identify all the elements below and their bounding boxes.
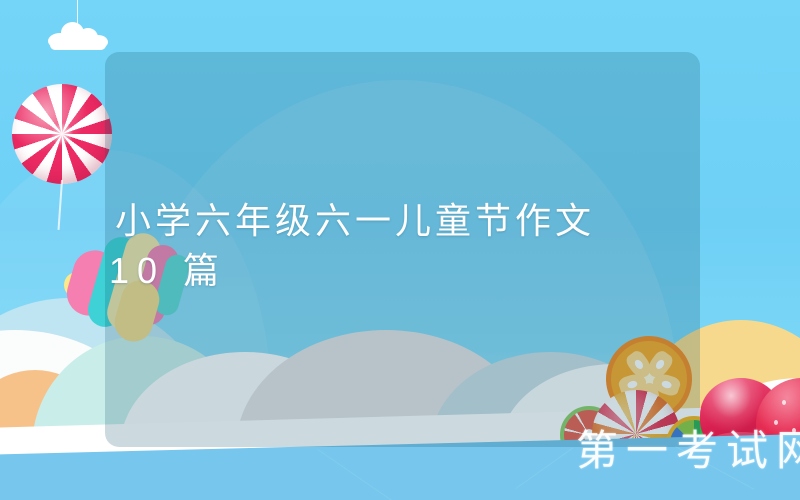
lollipop-large-icon: [12, 84, 112, 184]
cloud-base: [50, 40, 106, 50]
band-accent-line: [317, 449, 392, 500]
strawberry-dot: [792, 428, 796, 433]
title-line-2: 10 篇: [109, 246, 715, 296]
title-line-1: 小学六年级六一儿童节作文: [115, 196, 715, 246]
lollipop-large-center: [12, 84, 112, 184]
strawberry-dot: [774, 420, 778, 425]
band-accent-line: [675, 446, 755, 490]
cloud-hanging-string: [77, 0, 78, 24]
cloud-icon: [48, 22, 108, 48]
banner-canvas: 小学六年级六一儿童节作文 10 篇 第一考试网: [0, 0, 800, 500]
page-title: 小学六年级六一儿童节作文 10 篇: [115, 196, 715, 296]
strawberry-dot: [782, 400, 786, 405]
band-accent-line: [516, 447, 574, 488]
